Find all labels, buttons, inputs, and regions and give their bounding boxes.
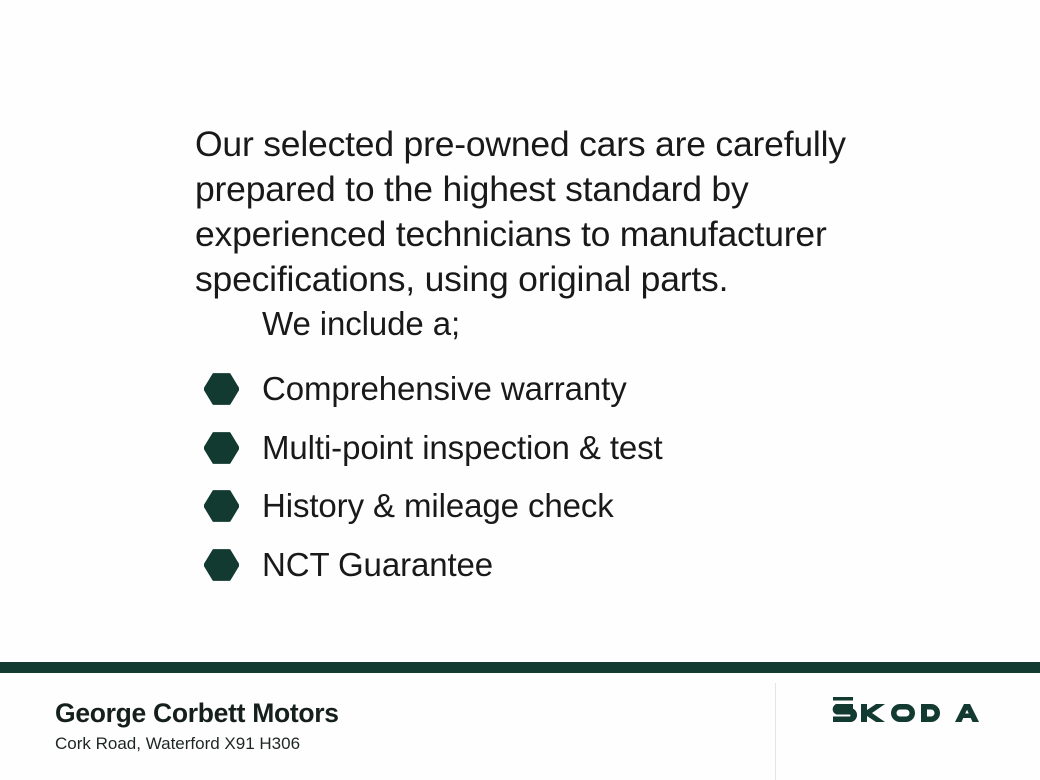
include-heading: We include a;	[262, 302, 460, 346]
dealer-block: George Corbett Motors Cork Road, Waterfo…	[55, 697, 339, 755]
brand-rule-divider	[0, 662, 1040, 673]
hexagon-bullet-icon	[204, 490, 239, 522]
dealer-address: Cork Road, Waterford X91 H306	[55, 732, 339, 755]
slide-canvas: Our selected pre-owned cars are carefull…	[0, 0, 1040, 780]
hexagon-bullet-icon	[204, 549, 239, 581]
benefit-label: History & mileage check	[262, 487, 614, 525]
benefit-label: Multi-point inspection & test	[262, 429, 663, 467]
list-item: History & mileage check	[200, 477, 900, 536]
list-item: NCT Guarantee	[200, 536, 900, 595]
benefit-label: NCT Guarantee	[262, 546, 493, 584]
hexagon-bullet-icon	[204, 432, 239, 464]
skoda-wordmark-logo: ŠKODA	[830, 697, 988, 727]
list-item: Comprehensive warranty	[200, 360, 900, 419]
list-item: Multi-point inspection & test	[200, 419, 900, 478]
intro-paragraph: Our selected pre-owned cars are carefull…	[195, 122, 885, 302]
benefit-label: Comprehensive warranty	[262, 370, 627, 408]
footer-bar: George Corbett Motors Cork Road, Waterfo…	[0, 673, 1040, 780]
footer-vertical-divider	[775, 683, 776, 780]
hexagon-bullet-icon	[204, 373, 239, 405]
dealer-name: George Corbett Motors	[55, 697, 339, 729]
benefit-list: Comprehensive warranty Multi-point inspe…	[200, 360, 900, 594]
